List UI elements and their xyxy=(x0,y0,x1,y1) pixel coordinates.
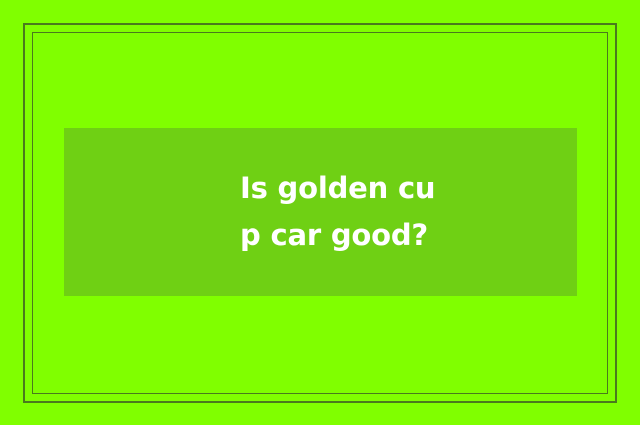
question-text-line-2: p car good? xyxy=(240,212,428,259)
question-card: Is golden cu p car good? xyxy=(0,0,640,425)
question-text-line-1: Is golden cu xyxy=(240,165,435,212)
question-panel: Is golden cu p car good? xyxy=(64,128,577,296)
